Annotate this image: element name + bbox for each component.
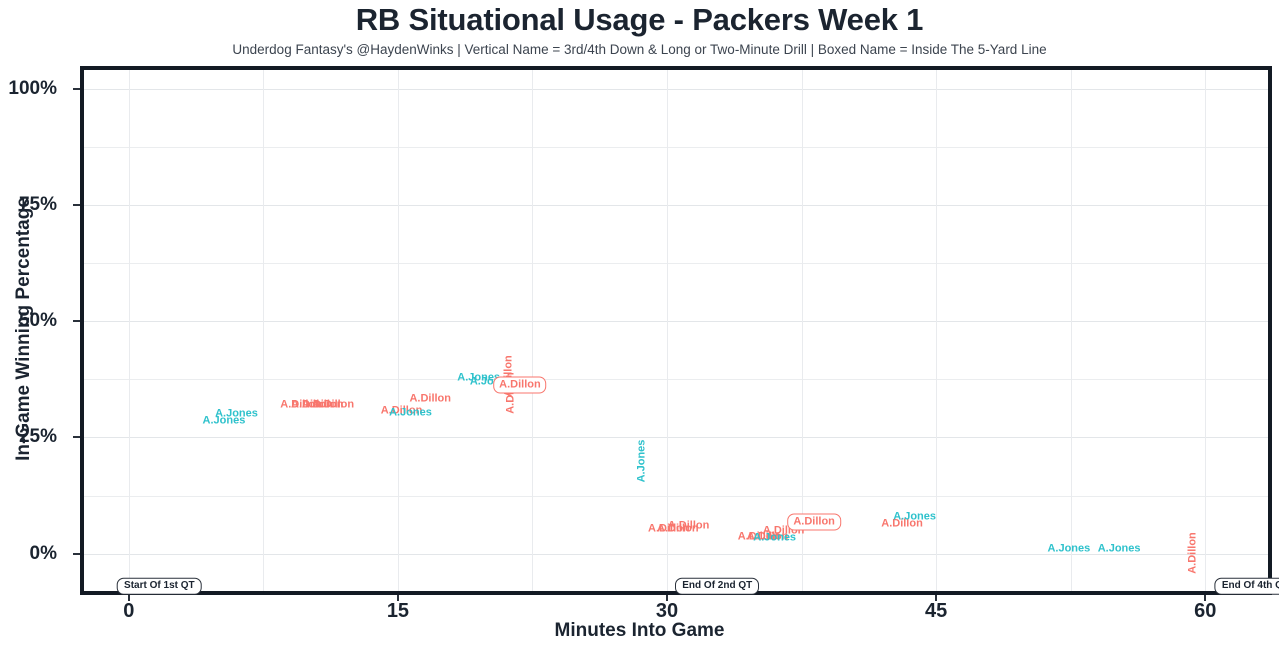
gridline-vertical — [936, 70, 937, 591]
x-axis-title: Minutes Into Game — [0, 620, 1279, 642]
y-axis-tick-mark — [73, 88, 80, 90]
data-point-label: A.Jones — [389, 407, 432, 418]
data-point-label: A.Dillon — [668, 520, 710, 531]
gridline-vertical — [667, 70, 668, 591]
quarter-marker: End Of 2nd QT — [675, 578, 759, 595]
y-axis-tick-mark — [73, 553, 80, 555]
y-axis-title: In-Game Winning Percentage — [13, 99, 35, 559]
data-point-label: A.Jones — [636, 439, 647, 482]
gridline-vertical — [532, 70, 533, 591]
quarter-marker: Start Of 1st QT — [117, 578, 202, 595]
gridline-horizontal — [84, 205, 1268, 206]
data-point-label: A.Jones — [1047, 543, 1090, 554]
data-point-label: A.Jones — [1098, 543, 1141, 554]
gridline-horizontal — [84, 496, 1268, 497]
gridline-horizontal — [84, 147, 1268, 148]
gridline-horizontal — [84, 89, 1268, 90]
y-axis-tick-mark — [73, 320, 80, 322]
data-point-label: A.Dillon — [409, 393, 451, 404]
gridline-horizontal — [84, 379, 1268, 380]
gridline-horizontal — [84, 554, 1268, 555]
gridline-horizontal — [84, 437, 1268, 438]
x-axis-tick-mark — [935, 595, 937, 601]
y-axis-tick-mark — [73, 436, 80, 438]
chart-root: RB Situational Usage - Packers Week 1 Un… — [0, 0, 1279, 650]
x-axis-tick-mark — [666, 595, 668, 601]
data-point-label: A.Dillon — [313, 399, 355, 410]
chart-title: RB Situational Usage - Packers Week 1 — [0, 2, 1279, 38]
x-axis-tick-mark — [1204, 595, 1206, 601]
gridline-horizontal — [84, 263, 1268, 264]
plot-panel: A.JonesA.JonesA.DillonA.DillonA.DillonA.… — [80, 66, 1272, 595]
y-axis-tick-mark — [73, 204, 80, 206]
x-axis-tick-mark — [128, 595, 130, 601]
y-axis-tick-label: 100% — [0, 78, 57, 100]
chart-subtitle: Underdog Fantasy's @HaydenWinks | Vertic… — [0, 42, 1279, 57]
data-point-label: A.Dillon — [1187, 532, 1198, 574]
x-axis-tick-mark — [397, 595, 399, 601]
data-point-label: A.Jones — [203, 416, 246, 427]
gridline-vertical — [1205, 70, 1206, 591]
data-point-label: A.Dillon — [787, 513, 841, 530]
data-point-label: A.Dillon — [493, 377, 547, 394]
quarter-marker: End Of 4th QT — [1215, 578, 1279, 595]
gridline-vertical — [263, 70, 264, 591]
gridline-horizontal — [84, 321, 1268, 322]
gridline-vertical — [398, 70, 399, 591]
data-point-label: A.Jones — [893, 512, 936, 523]
plot-area: A.JonesA.JonesA.DillonA.DillonA.DillonA.… — [84, 70, 1268, 591]
gridline-vertical — [1071, 70, 1072, 591]
gridline-vertical — [129, 70, 130, 591]
